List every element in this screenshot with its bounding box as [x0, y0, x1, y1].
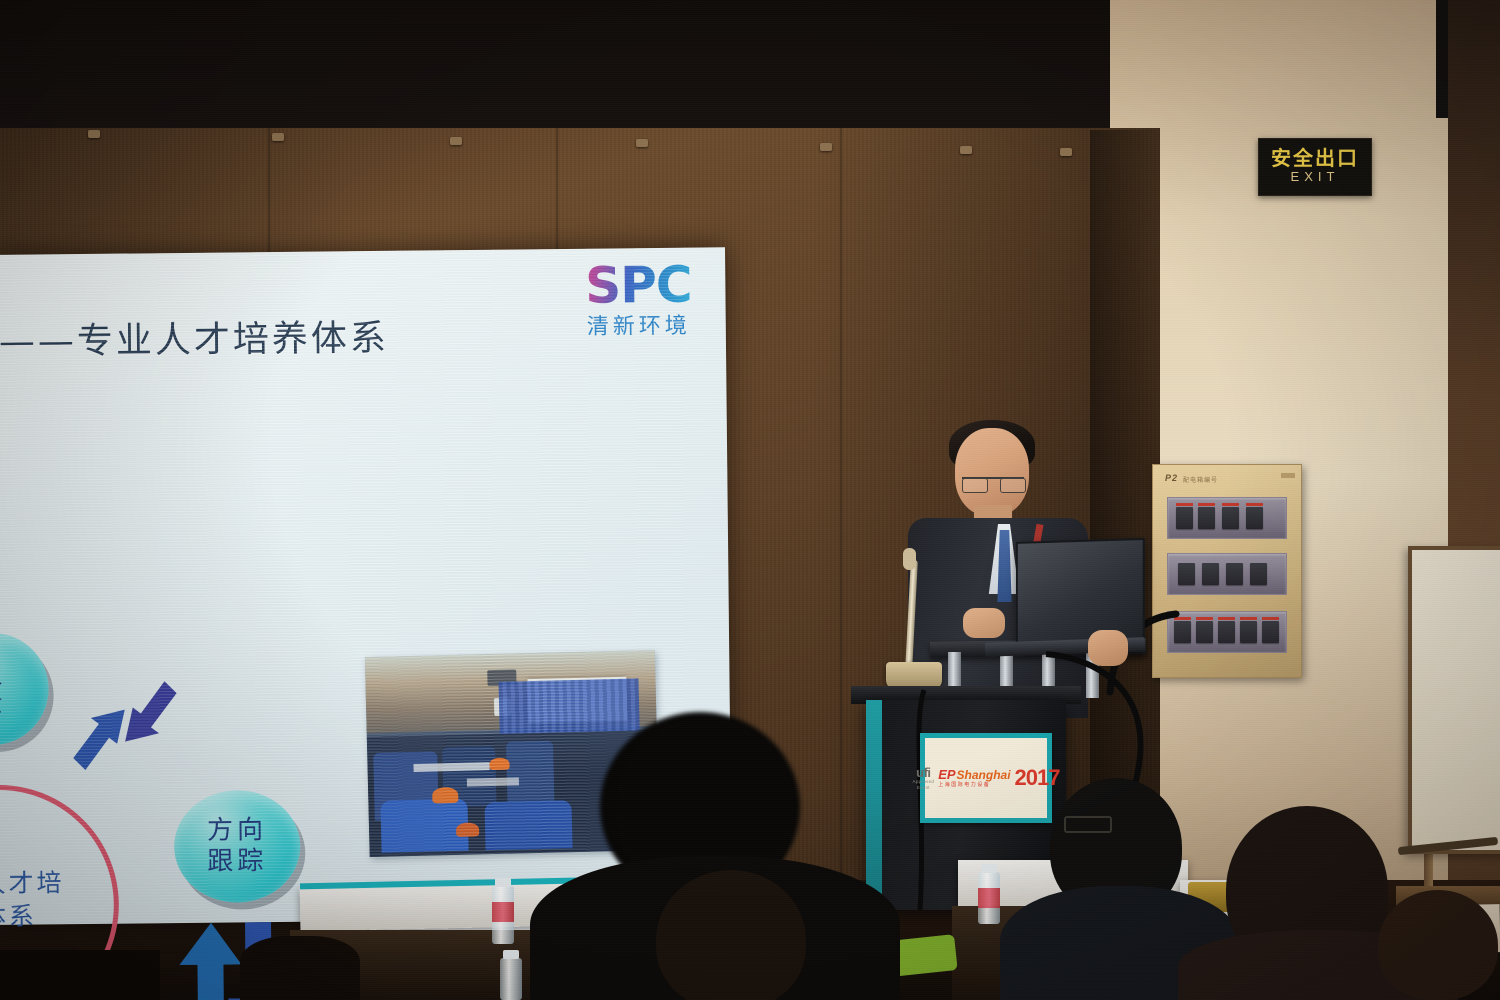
ceiling-mount — [820, 143, 832, 151]
exit-sign-english: EXIT — [1291, 168, 1340, 186]
diagram-bubble-direction: 方向 跟踪 — [174, 790, 301, 903]
logo-chinese-name: 清新环境 — [569, 307, 709, 340]
podium-event-sign: ufi Approved Event EP Shanghai 上海国际电力设备 … — [920, 733, 1052, 823]
event-chinese-subtitle: 上海国际电力设备 — [938, 783, 1010, 788]
ufi-approved-line2: Event — [917, 786, 930, 791]
event-logo: EP Shanghai 上海国际电力设备 — [938, 768, 1010, 788]
ceiling-mount — [960, 146, 972, 154]
breaker-row-2 — [1167, 553, 1287, 595]
electrical-panel-tag — [1281, 473, 1295, 478]
electrical-panel-label: P2 — [1165, 473, 1178, 483]
water-bottle — [500, 958, 522, 1000]
breaker-row-1 — [1167, 497, 1287, 539]
spc-logo: SPC 清新环境 — [568, 259, 709, 340]
audience-head — [656, 870, 806, 1000]
electrical-panel-sublabel: 配电箱编号 — [1183, 475, 1218, 484]
event-city: Shanghai — [957, 769, 1011, 781]
audience-glasses — [1064, 816, 1112, 833]
podium-accent-edge — [866, 700, 882, 910]
ufi-logo: ufi Approved Event — [913, 766, 935, 790]
audience-head — [0, 950, 160, 1000]
ceiling-mount — [1060, 148, 1072, 156]
presentation-scene: ——专业人才培养体系 SPC 清新环境 人才培 体系 人 责 方向 跟踪 — [0, 0, 1500, 1000]
logo-wordmark: SPC — [568, 259, 709, 310]
exit-sign: 安全出口 EXIT — [1258, 138, 1372, 196]
event-year: 2017 — [1015, 765, 1060, 791]
slide-title: ——专业人才培养体系 — [0, 309, 389, 365]
diagram-bubble-top-left: 人 责 — [0, 632, 49, 745]
ufi-wordmark: ufi — [916, 766, 930, 779]
speaker-glasses — [962, 477, 1024, 493]
ufi-approved-line1: Approved — [913, 780, 935, 785]
ceiling-mount — [88, 130, 100, 138]
ceiling-mount — [636, 139, 648, 147]
center-ring-label: 人才培 体系 — [0, 867, 65, 933]
speaker-head — [955, 428, 1029, 516]
exit-sign-chinese: 安全出口 — [1271, 148, 1359, 168]
microphone-head — [903, 548, 916, 570]
water-bottle-cap — [495, 878, 511, 887]
ceiling-mount — [272, 133, 284, 141]
whiteboard — [1408, 546, 1500, 854]
diagram-arrow-upper — [64, 665, 195, 796]
speaker-hand-left — [963, 608, 1005, 638]
breaker-row-3 — [1167, 611, 1287, 653]
event-prefix: EP — [938, 768, 955, 781]
audience-head — [240, 936, 360, 1000]
water-bottle-cap — [981, 864, 997, 873]
water-bottle-label — [978, 888, 1000, 908]
audience-head — [1378, 890, 1498, 1000]
ceiling-mount — [450, 137, 462, 145]
water-bottle-label — [492, 902, 514, 922]
water-bottle-cap — [503, 950, 519, 959]
